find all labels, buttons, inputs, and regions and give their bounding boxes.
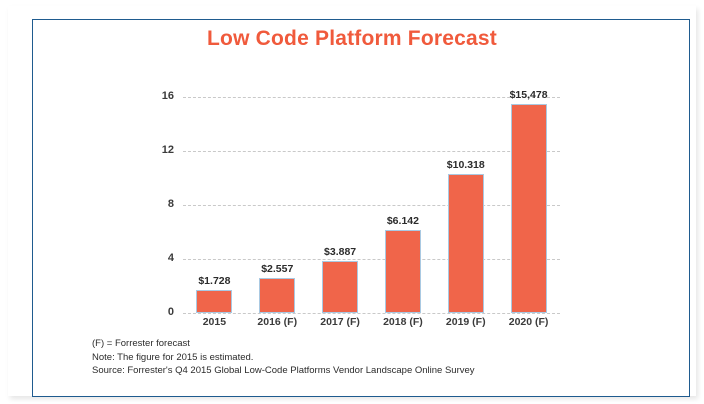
y-axis-tick-label: 0 xyxy=(146,306,174,318)
bar-group[interactable]: $15,4782020 (F) xyxy=(509,97,549,313)
gridline xyxy=(183,259,560,260)
footnotes: (F) = Forrester forecast Note: The figur… xyxy=(92,337,475,378)
footnote-note: Note: The figure for 2015 is estimated. xyxy=(92,351,475,365)
y-axis-tick-label: 4 xyxy=(146,252,174,264)
bar[interactable] xyxy=(448,174,484,313)
bar[interactable] xyxy=(322,261,358,313)
y-axis-tick-label: 8 xyxy=(146,198,174,210)
bar-group[interactable]: $3.8872017 (F) xyxy=(320,97,360,313)
y-axis-tick-label: 16 xyxy=(146,90,174,102)
bar[interactable] xyxy=(385,230,421,313)
x-axis-tick-label: 2015 xyxy=(180,316,248,328)
bar-value-label: $10.318 xyxy=(432,159,500,171)
bar-group[interactable]: $1.7282015 xyxy=(194,97,234,313)
x-axis-tick-label: 2020 (F) xyxy=(495,316,563,328)
x-axis-tick-label: 2018 (F) xyxy=(369,316,437,328)
bar[interactable] xyxy=(511,104,547,313)
y-axis-tick-label: 12 xyxy=(146,144,174,156)
bar-value-label: $1.728 xyxy=(180,275,248,287)
bar[interactable] xyxy=(259,278,295,313)
page-frame: Low Code Platform Forecast 0481216$1.728… xyxy=(0,0,704,404)
plot-area: 0481216$1.7282015$2.5572016 (F)$3.887201… xyxy=(183,97,560,313)
bar-group[interactable]: $10.3182019 (F) xyxy=(446,97,486,313)
bar-value-label: $2.557 xyxy=(243,263,311,275)
x-axis-tick-label: 2017 (F) xyxy=(306,316,374,328)
bar-group[interactable]: $2.5572016 (F) xyxy=(257,97,297,313)
bar[interactable] xyxy=(196,290,232,313)
gridline xyxy=(183,313,560,314)
gridline xyxy=(183,205,560,206)
footnote-source: Source: Forrester's Q4 2015 Global Low-C… xyxy=(92,364,475,378)
gridline xyxy=(183,151,560,152)
bar-value-label: $3.887 xyxy=(306,246,374,258)
bar-value-label: $15,478 xyxy=(495,89,563,101)
chart-title: Low Code Platform Forecast xyxy=(0,27,704,51)
footnote-forecast-key: (F) = Forrester forecast xyxy=(92,337,475,351)
x-axis-tick-label: 2016 (F) xyxy=(243,316,311,328)
bar-value-label: $6.142 xyxy=(369,215,437,227)
bar-group[interactable]: $6.1422018 (F) xyxy=(383,97,423,313)
x-axis-tick-label: 2019 (F) xyxy=(432,316,500,328)
